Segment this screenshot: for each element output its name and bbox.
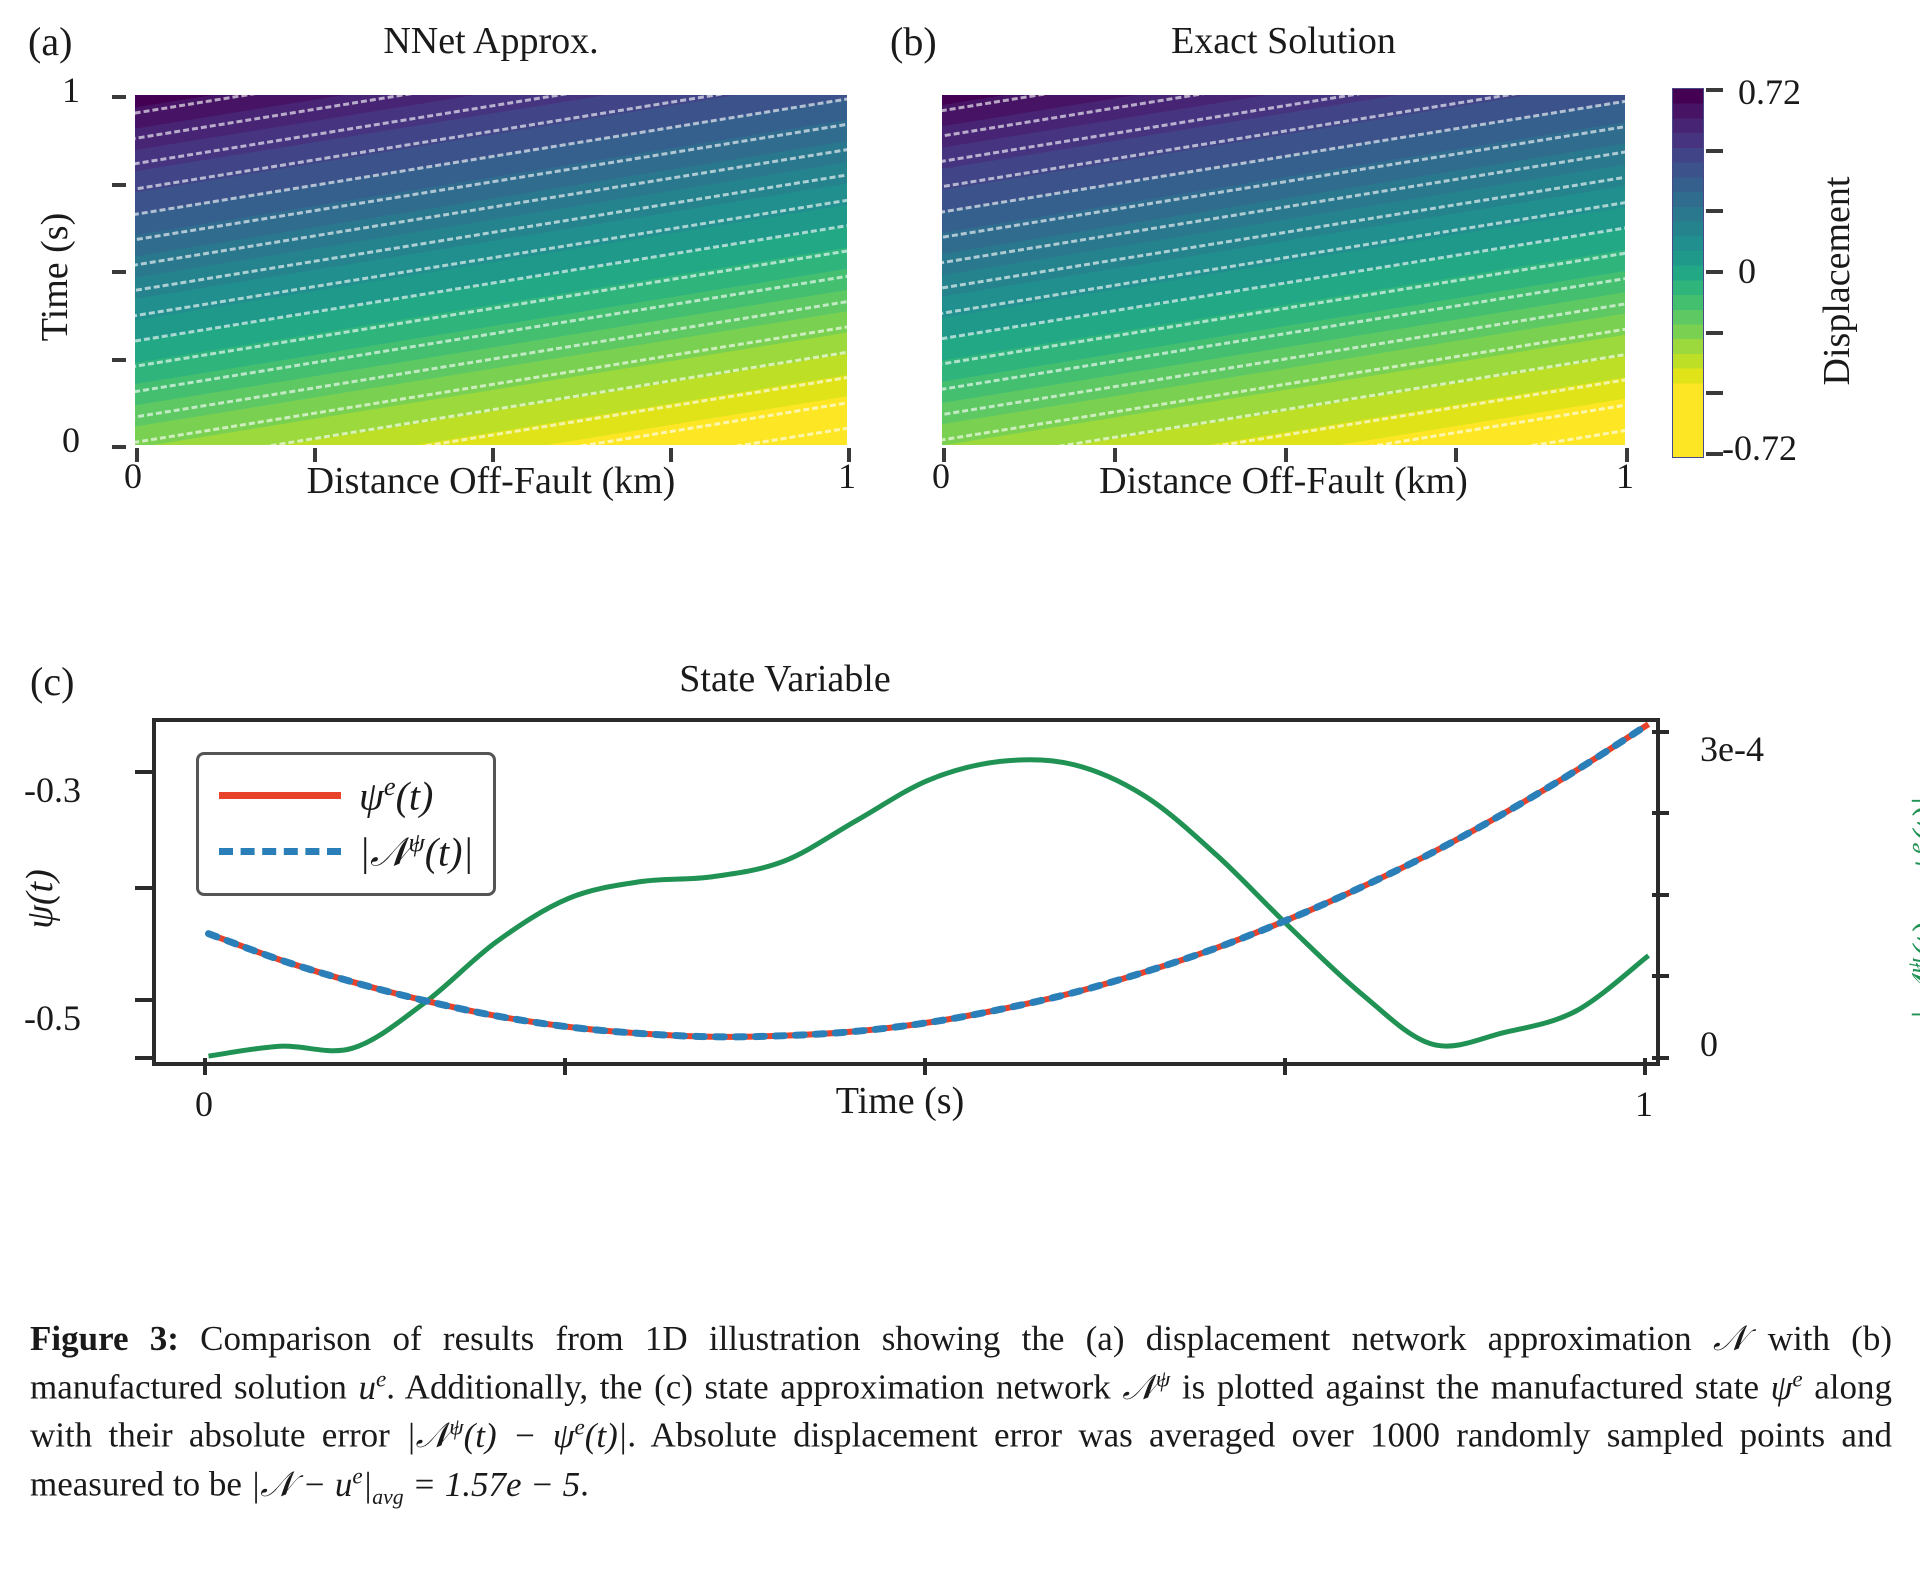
axis-tick (1652, 1056, 1669, 1060)
panel-c-ylabel-left: ψ(t) (21, 809, 59, 989)
panel-c-ytick-right-2: 0 (1700, 1026, 1718, 1062)
panel-b-xlabel: Distance Off-Fault (km) (942, 462, 1625, 500)
axis-tick (203, 1058, 207, 1075)
colorbar-tick (1706, 88, 1723, 92)
contour-line (135, 95, 847, 280)
panel-c-ylabel-right: |𝒩ψ(t) − ψe(t)| (1905, 478, 1920, 1338)
caption-sym-Npsi-1: 𝒩ψ (1122, 1368, 1170, 1407)
caption-sym-ue-1: ue (358, 1368, 386, 1407)
panel-a-letter: (a) (28, 22, 72, 62)
panel-c-xtick-left: 0 (195, 1086, 213, 1122)
contour-line (135, 411, 847, 445)
axis-tick (1283, 1058, 1287, 1075)
colorbar-tick (1706, 391, 1723, 395)
colorbar-tick-max: 0.72 (1738, 74, 1801, 110)
contour-line (942, 95, 1625, 202)
axis-tick (923, 1058, 927, 1075)
legend-item-nnet: |𝒩ψ(t)| (219, 823, 473, 879)
legend-item-exact: ψe(t) (219, 767, 473, 823)
axis-tick (135, 1056, 152, 1060)
panel-a-heatmap (135, 95, 847, 445)
contour-line (135, 95, 847, 206)
axis-tick (135, 770, 152, 774)
panel-a-xlabel: Distance Off-Fault (km) (135, 462, 847, 500)
colorbar-tick (1706, 270, 1723, 274)
panel-a-title: NNet Approx. (135, 22, 847, 60)
panel-a-ytick-top: 1 (62, 72, 80, 108)
panel-c-ytick-right-1: 3e-4 (1700, 731, 1764, 767)
panel-b-contours (942, 95, 1625, 445)
caption-seg-3: . Additionally, the (c) state approximat… (386, 1368, 1122, 1407)
panel-b-title: Exact Solution (942, 22, 1625, 60)
panel-b-letter: (b) (890, 22, 937, 62)
caption-sym-N-1: 𝒩 (1713, 1319, 1747, 1358)
legend-label-nnet: |𝒩ψ(t)| (359, 827, 473, 875)
legend-label-exact: ψe(t) (359, 771, 433, 819)
axis-tick (112, 183, 126, 187)
axis-tick (112, 95, 126, 99)
axis-tick (112, 358, 126, 362)
panel-b-heatmap (942, 95, 1625, 445)
axis-tick (135, 998, 152, 1002)
panel-c-ytick-left-2: -0.5 (24, 1000, 81, 1036)
axis-tick (135, 886, 152, 890)
panel-c-xlabel: Time (s) (600, 1082, 1200, 1120)
axis-tick (1652, 893, 1669, 897)
colorbar-tick (1706, 331, 1723, 335)
axis-tick (1652, 811, 1669, 815)
caption-sym-error: |𝒩ψ(t) − ψe(t)| (406, 1416, 627, 1455)
panel-a-ytick-bottom: 0 (62, 422, 80, 458)
axis-tick (1643, 1058, 1647, 1075)
legend-swatch-dashed-icon (219, 848, 341, 855)
figure-caption: Figure 3: Comparison of results from 1D … (30, 1316, 1892, 1512)
colorbar-ticks (1706, 88, 1726, 456)
axis-tick (112, 445, 126, 449)
panel-c-xtick-right: 1 (1635, 1086, 1653, 1122)
axis-tick (1652, 974, 1669, 978)
legend-swatch-solid-icon (219, 792, 341, 799)
contour-line (942, 439, 1625, 445)
caption-seg-1: Comparison of results from 1D illustrati… (200, 1319, 1713, 1358)
caption-sym-avg-error: |𝒩 − ue|avg = 1.57e − 5 (251, 1465, 581, 1504)
colorbar (1672, 88, 1704, 458)
colorbar-tick (1706, 452, 1723, 456)
colorbar-tick (1706, 209, 1723, 213)
axis-tick (112, 270, 126, 274)
caption-seg-7: . (580, 1465, 589, 1504)
contour-line (135, 115, 847, 305)
panel-c-legend: ψe(t) |𝒩ψ(t)| (196, 752, 496, 896)
caption-sym-psie-1: ψe (1771, 1368, 1803, 1407)
panel-c-letter: (c) (30, 662, 74, 702)
figure-3: (a) NNet Approx. 1 0 0 1 Distance Off-Fa… (0, 0, 1920, 1589)
colorbar-label-line1: Displacement (1816, 177, 1858, 386)
panel-a-ylabel: Time (s) (36, 167, 74, 387)
caption-figure-number: Figure 3: (30, 1319, 179, 1358)
contour-line (135, 337, 847, 445)
colorbar-tick-min: -0.72 (1722, 430, 1797, 466)
colorbar-tick (1706, 149, 1723, 153)
panel-a-contours (135, 95, 847, 445)
caption-seg-4: is plotted against the manufactured stat… (1170, 1368, 1770, 1407)
panel-c-title: State Variable (135, 660, 1435, 698)
colorbar-label: Displacement (1818, 116, 1856, 446)
axis-tick (1652, 730, 1669, 734)
contour-line (942, 341, 1625, 445)
axis-tick (563, 1058, 567, 1075)
contour-line (942, 95, 1625, 276)
colorbar-tick-mid: 0 (1738, 253, 1756, 289)
panel-c-ytick-left-1: -0.3 (24, 772, 81, 808)
